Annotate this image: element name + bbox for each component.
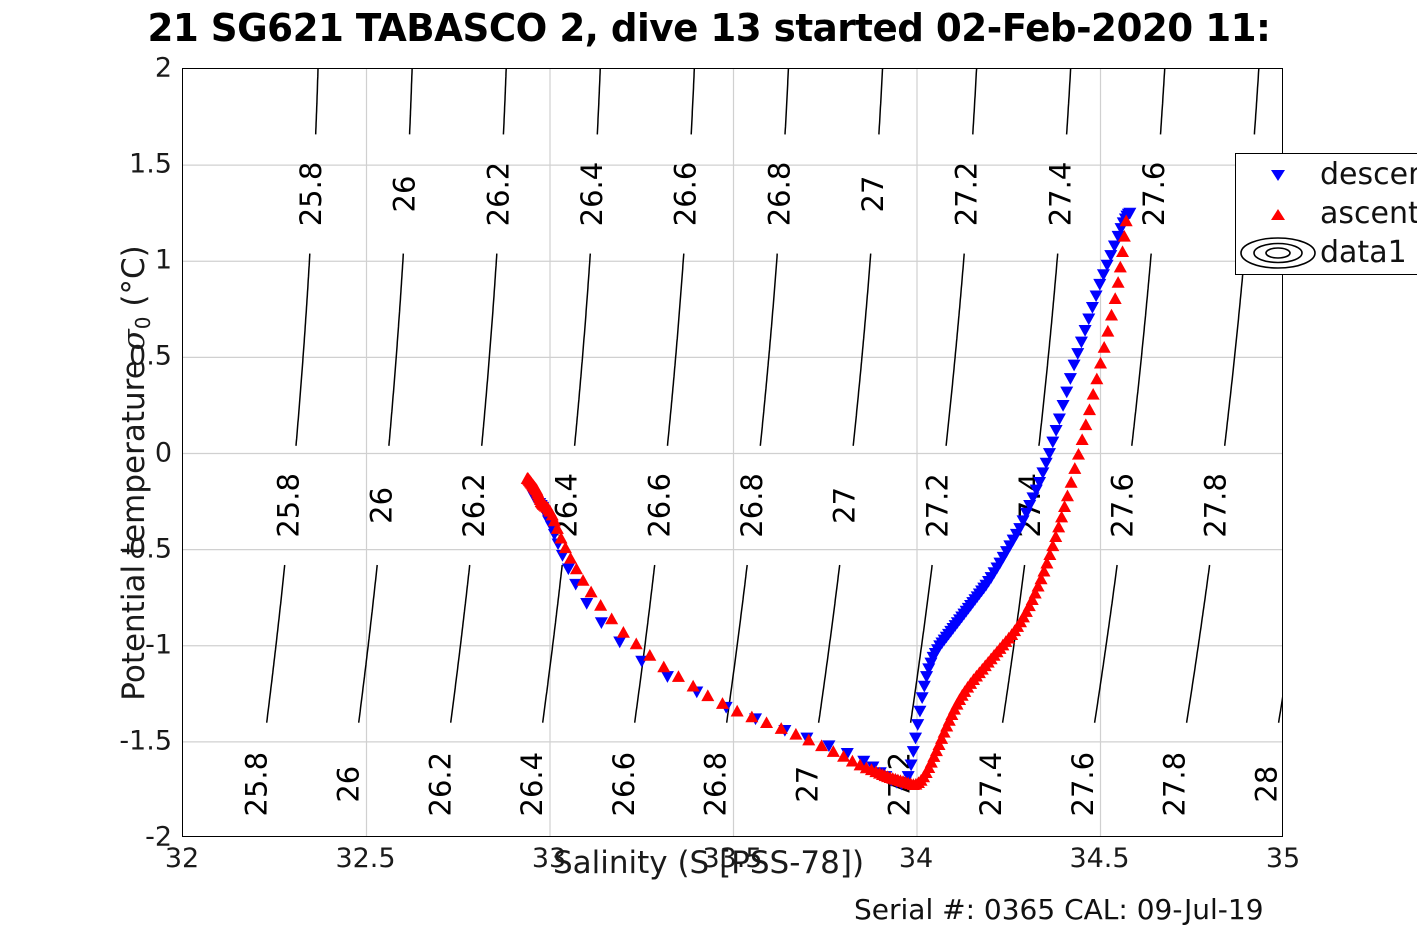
- data-point: [1108, 241, 1120, 252]
- contour-line: [451, 565, 470, 723]
- contour-line: [819, 565, 840, 723]
- data-point: [595, 618, 607, 629]
- data-point: [1075, 337, 1087, 348]
- data-point: [921, 671, 933, 682]
- contour-line: [973, 69, 977, 134]
- data-point: [661, 671, 673, 682]
- plot-clip: 25.825.825.826262626.226.226.226.426.426…: [183, 69, 1282, 836]
- contour-label: 27: [828, 487, 862, 524]
- y-tick-label: 2: [155, 53, 172, 84]
- contour-line: [727, 565, 748, 723]
- contour-label: 27.4: [974, 752, 1008, 817]
- contour-label: 25.8: [272, 473, 306, 538]
- triangle-up-icon: [1236, 209, 1320, 220]
- data-point: [1109, 293, 1121, 304]
- data-point: [1112, 277, 1124, 288]
- data-point: [702, 690, 714, 701]
- data-point: [1087, 389, 1099, 400]
- contour-line: [1095, 565, 1118, 723]
- x-tick-label: 35: [1266, 843, 1300, 874]
- y-tick-label: 0: [155, 437, 172, 468]
- data-point: [914, 706, 926, 717]
- data-point: [1086, 302, 1098, 313]
- contour-line: [316, 69, 318, 134]
- contour-label: 27.6: [1137, 162, 1171, 227]
- data-point: [1083, 314, 1095, 325]
- x-tick-label: 33: [532, 843, 566, 874]
- y-axis-label-post: (°C): [116, 245, 152, 316]
- data-point: [1059, 501, 1071, 512]
- contour-line: [1132, 254, 1151, 446]
- data-point: [672, 671, 684, 682]
- data-point: [1105, 250, 1117, 261]
- data-point: [1061, 490, 1073, 501]
- contour-line: [482, 254, 497, 446]
- contour-line: [668, 254, 684, 446]
- legend-label-descent: descent: [1320, 160, 1417, 190]
- y-tick-label: 1.5: [129, 149, 172, 180]
- x-tick-label: 33.5: [702, 843, 762, 874]
- data-point: [1117, 246, 1129, 257]
- data-point: [1047, 437, 1059, 448]
- y-tick-label: 0.5: [129, 341, 172, 372]
- contour-label: 26.6: [669, 162, 703, 227]
- contour-label: 27: [790, 766, 824, 803]
- contour-line: [267, 565, 285, 723]
- data-point: [761, 717, 773, 728]
- data-point: [918, 681, 930, 692]
- data-point: [1040, 458, 1052, 469]
- contour-label: 26.2: [481, 162, 515, 227]
- data-point: [1094, 279, 1106, 290]
- contour-label: 26.2: [457, 473, 491, 538]
- sigma-subscript: 0: [131, 316, 155, 329]
- contour-line: [1067, 69, 1071, 134]
- contour-label: 25.8: [294, 162, 328, 227]
- x-tick-label: 34: [899, 843, 933, 874]
- serial-footer: Serial #: 0365 CAL: 09-Jul-19: [854, 893, 1264, 926]
- contour-label: 26.8: [699, 752, 733, 817]
- contour-line: [296, 254, 310, 446]
- data-point: [687, 680, 699, 691]
- data-point: [1106, 309, 1118, 320]
- contour-line: [785, 69, 788, 134]
- y-tick-label: -2: [145, 822, 172, 853]
- contour-label: 27.6: [1106, 473, 1140, 538]
- contour-label: 27.8: [1198, 473, 1232, 538]
- y-tick-label: -1: [145, 629, 172, 660]
- y-tick-label: -1.5: [119, 725, 172, 756]
- data-point: [1056, 511, 1068, 522]
- triangle-down-icon: [1236, 170, 1320, 181]
- data-point: [1097, 270, 1109, 281]
- x-tick-label: 34.5: [1069, 843, 1129, 874]
- y-tick-label: -0.5: [119, 533, 172, 564]
- data-point: [1080, 419, 1092, 430]
- data-point: [1050, 531, 1062, 542]
- data-point: [1079, 325, 1091, 336]
- legend-item-data1[interactable]: data1: [1236, 234, 1417, 272]
- contour-label: 27.6: [1066, 752, 1100, 817]
- contour-label: 26.6: [642, 473, 676, 538]
- plot-area: 25.825.825.826262626.226.226.226.426.426…: [182, 68, 1283, 837]
- contour-label: 26: [388, 176, 422, 213]
- contour-label: 27.8: [1158, 752, 1192, 817]
- data-point: [1061, 387, 1073, 398]
- contour-line: [853, 254, 871, 446]
- data-point: [1065, 477, 1077, 488]
- data-point: [1083, 404, 1095, 415]
- contour-line: [410, 69, 413, 134]
- contour-label: 28: [1249, 766, 1282, 803]
- contour-ellipses-icon: [1236, 236, 1320, 270]
- contour-label: 27.4: [1043, 162, 1077, 227]
- data-point: [630, 638, 642, 649]
- legend-item-ascent[interactable]: ascent: [1236, 195, 1417, 233]
- contour-label: 27.2: [920, 473, 954, 538]
- contour-label: 27.2: [950, 162, 984, 227]
- contour-line: [1187, 565, 1210, 723]
- contour-group: 25.825.825.826262626.226.226.226.426.426…: [240, 69, 1282, 816]
- data-point: [1114, 261, 1126, 272]
- data-point: [644, 650, 656, 661]
- x-tick-label: 32.5: [335, 843, 395, 874]
- figure-root: 21 SG621 TABASCO 2, dive 13 started 02-F…: [0, 0, 1417, 945]
- contour-label: 26: [364, 487, 398, 524]
- data-point: [1057, 400, 1069, 411]
- data-point: [790, 728, 802, 739]
- contour-line: [597, 69, 600, 134]
- data-point: [1068, 360, 1080, 371]
- contour-label: 26: [331, 766, 365, 803]
- data-point: [1053, 414, 1065, 425]
- data-point: [1102, 326, 1114, 337]
- data-point: [581, 598, 593, 609]
- figure-title-text: 21 SG621 TABASCO 2, dive 13 started 02-F…: [147, 2, 1270, 54]
- y-tick-label: 1: [155, 245, 172, 276]
- legend[interactable]: descent ascent data1: [1235, 153, 1417, 275]
- data-point: [585, 586, 597, 597]
- data-point: [1101, 260, 1113, 271]
- legend-item-descent[interactable]: descent: [1236, 156, 1417, 194]
- contour-line: [575, 254, 591, 446]
- contour-line: [503, 69, 506, 134]
- data-point: [658, 661, 670, 672]
- contour-line: [691, 69, 694, 134]
- figure-title: 21 SG621 TABASCO 2, dive 13 started 02-F…: [0, 2, 1417, 58]
- contour-line: [1254, 69, 1258, 134]
- data-point: [1064, 373, 1076, 384]
- contour-line: [1225, 254, 1245, 446]
- contour-line: [879, 69, 883, 134]
- contour-line: [760, 254, 777, 446]
- data-point: [916, 693, 928, 704]
- contour-label: 26.6: [607, 752, 641, 817]
- contour-line: [389, 254, 403, 446]
- contour-line: [543, 565, 563, 723]
- data-point: [912, 719, 924, 730]
- legend-label-ascent: ascent: [1320, 199, 1417, 229]
- contour-line: [1161, 69, 1165, 134]
- contour-line: [946, 254, 964, 446]
- data-point: [617, 627, 629, 638]
- contour-label: 26.4: [515, 752, 549, 817]
- contour-line: [359, 565, 378, 723]
- contour-label: 25.8: [240, 752, 274, 817]
- data-point: [595, 600, 607, 611]
- data-point: [1076, 434, 1088, 445]
- contour-label: 26.4: [575, 162, 609, 227]
- contour-label: 27: [856, 176, 890, 213]
- data-point: [1050, 425, 1062, 436]
- data-point: [1095, 357, 1107, 368]
- contour-line: [1279, 565, 1282, 723]
- contour-label: 26.8: [762, 162, 796, 227]
- legend-label-data1: data1: [1320, 238, 1407, 268]
- data-point: [1053, 521, 1065, 532]
- contour-label: 26.2: [423, 752, 457, 817]
- data-point: [1069, 463, 1081, 474]
- data-point: [606, 613, 618, 624]
- plot-svg: 25.825.825.826262626.226.226.226.426.426…: [183, 69, 1282, 836]
- contour-label: 26.8: [735, 473, 769, 538]
